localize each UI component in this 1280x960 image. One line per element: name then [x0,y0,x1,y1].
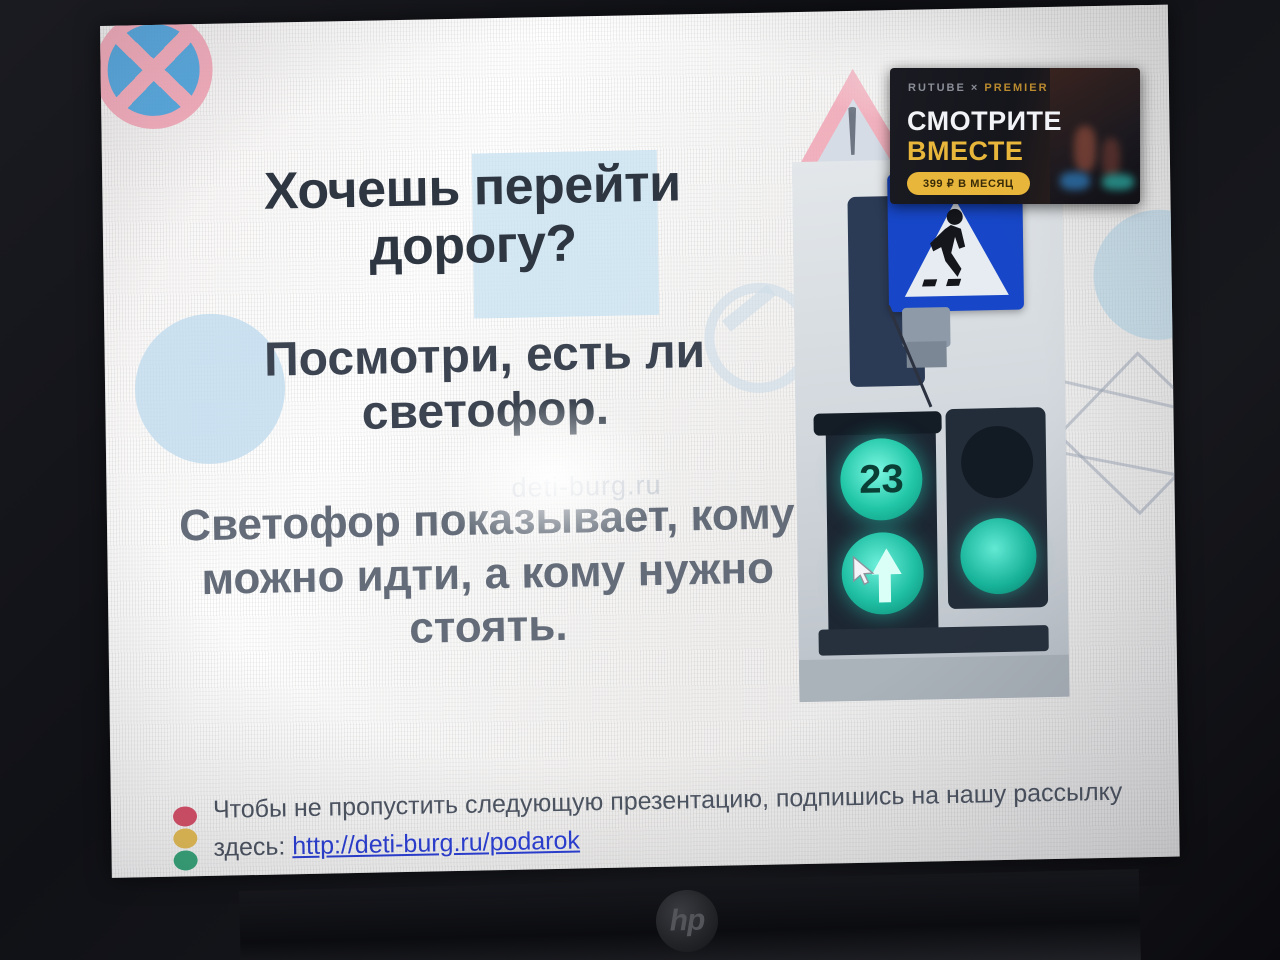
photo-road-kerb [799,655,1070,702]
subscription-link[interactable]: http://deti-burg.ru/podarok [292,826,580,860]
rutube-premier-ad[interactable]: RUTUBE × PREMIER СМОТРИТЕ ВМЕСТЕ 399 ₽ В… [890,68,1140,204]
ad-brand-lockup: RUTUBE × PREMIER [908,82,1049,94]
ad-price-badge[interactable]: 399 ₽ В МЕСЯЦ [907,172,1030,195]
decor-circle-blue-right [1093,209,1180,342]
photo-signal-base [818,625,1048,656]
pedestrian-glyph-icon [921,206,988,291]
ad-brand-primary: RUTUBE [908,82,966,94]
traffic-light-photo: 23 [792,157,1069,702]
ad-photo-panel [1050,68,1140,204]
photo-signal-visor [813,411,941,436]
mouse-cursor [851,556,877,591]
ad-headline-line2: ВМЕСТЕ [907,136,1023,167]
ad-brand-secondary: PREMIER [984,82,1048,94]
slide-headline: Хочешь перейти дорогу? [162,152,784,281]
no-entry-sign-icon [100,10,213,130]
photo-scene: hp deti-burg.ru Хочешь перейти дорогу? П… [0,0,1280,960]
decor-diamond-outline [1057,351,1180,515]
traffic-light-icon [173,806,200,873]
ad-brand-separator: × [971,82,979,94]
footer-text: Чтобы не пропустить следующую презентаци… [213,773,1134,866]
slide-body-text: Светофор показывает, кому можно идти, а … [167,487,809,661]
ad-headline-line1: СМОТРИТЕ [907,106,1062,137]
green-arrow-stem [879,572,891,602]
slide-footer: Чтобы не пропустить следующую презентаци… [165,766,1125,785]
slide-subheadline: Посмотри, есть ли светофор. [164,322,805,445]
